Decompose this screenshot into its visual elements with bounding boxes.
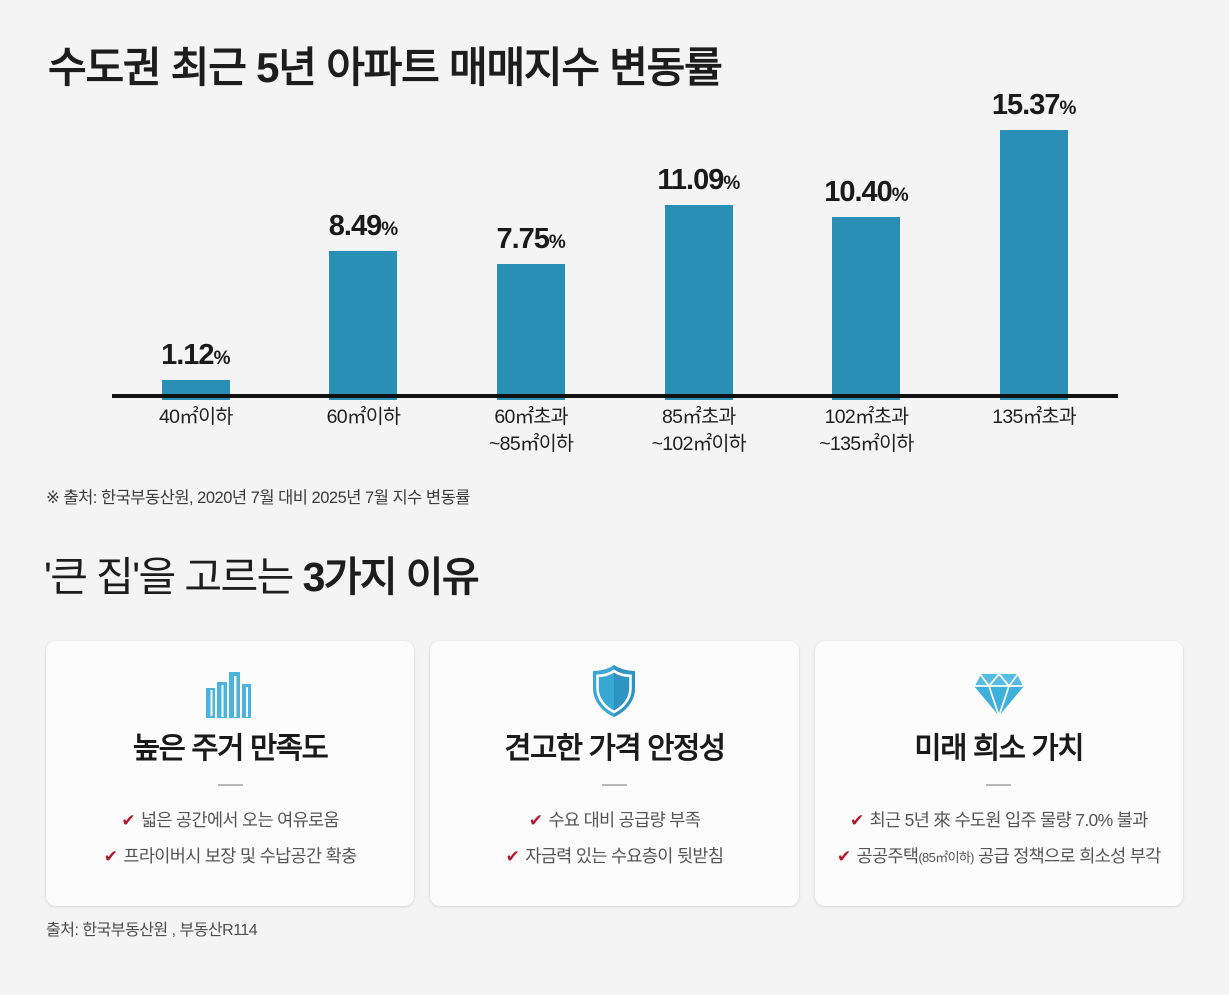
section-heading-light: '큰 집'을 고르는 (44, 554, 303, 600)
chart-bar[interactable] (1000, 130, 1068, 400)
category-label-line: 135㎡초과 (950, 404, 1118, 431)
building-icon (201, 664, 259, 718)
section-heading-heavy: 3가지 이유 (303, 554, 478, 600)
bar-value-label: 11.09% (657, 164, 740, 197)
chart-bar[interactable] (665, 205, 733, 400)
category-label-line: 60㎡이하 (280, 404, 448, 431)
reason-card-bullets: ✔최근 5년 來 수도원 입주 물량 7.0% 불과✔공공주택(85㎡이하) 공… (815, 807, 1183, 868)
reason-card-title: 높은 주거 만족도 (133, 725, 328, 767)
category-label-line: 102㎡초과 (783, 404, 951, 431)
infographic-page: 수도권 최근 5년 아파트 매매지수 변동률 1.12%8.49%7.75%11… (0, 0, 1229, 995)
chart-bar[interactable] (497, 264, 565, 400)
list-item: ✔넓은 공간에서 오는 여유로움 (121, 807, 339, 832)
bar-slot: 15.37% (950, 110, 1118, 400)
bar-slot: 1.12% (112, 110, 280, 400)
diamond-icon (972, 670, 1026, 718)
chart-bar[interactable] (832, 217, 900, 400)
shield-icon (585, 664, 643, 718)
bar-value-label: 1.12% (161, 339, 230, 372)
reason-card[interactable]: 미래 희소 가치✔최근 5년 來 수도원 입주 물량 7.0% 불과✔공공주택(… (815, 641, 1183, 906)
bar-slot: 11.09% (615, 110, 783, 400)
building-icon (204, 670, 256, 718)
list-item: ✔자금력 있는 수요층이 뒷받침 (506, 843, 724, 868)
reason-cards: 높은 주거 만족도✔넓은 공간에서 오는 여유로움✔프라이버시 보장 및 수납공… (46, 641, 1183, 906)
list-item-label: 최근 5년 來 수도원 입주 물량 7.0% 불과 (870, 807, 1148, 832)
footer-source: 출처: 한국부동산원 , 부동산R114 (46, 916, 257, 940)
list-item-label-note: (85㎡이하) (918, 850, 974, 865)
list-item-label: 자금력 있는 수요층이 뒷받침 (525, 843, 723, 868)
page-title-heavy: 아파트 매매지수 변동률 (326, 44, 721, 91)
list-item-label: 프라이버시 보장 및 수납공간 확충 (123, 843, 356, 868)
chart-category-label: 135㎡초과 (950, 404, 1118, 431)
category-label-line: ~85㎡이하 (447, 431, 615, 458)
reason-card-title: 미래 희소 가치 (914, 725, 1083, 767)
bar-value-label: 15.37% (992, 89, 1076, 122)
check-icon: ✔ (837, 848, 851, 865)
chart-source-note: ※ 출처: 한국부동산원, 2020년 7월 대비 2025년 7월 지수 변동… (46, 484, 470, 508)
check-icon: ✔ (850, 812, 864, 829)
category-label-line: 40㎡이하 (112, 404, 280, 431)
chart-baseline-axis (112, 394, 1118, 398)
check-icon: ✔ (529, 812, 543, 829)
list-item-label: 공공주택(85㎡이하) 공급 정책으로 희소성 부각 (857, 843, 1161, 868)
chart-bar[interactable] (329, 251, 397, 400)
page-title-light: 수도권 최근 5년 (48, 44, 326, 91)
list-item: ✔최근 5년 來 수도원 입주 물량 7.0% 불과 (850, 807, 1148, 832)
page-title: 수도권 최근 5년 아파트 매매지수 변동률 (48, 34, 722, 95)
card-divider (218, 784, 243, 786)
chart-category-label: 85㎡초과~102㎡이하 (615, 404, 783, 458)
bar-value-label: 10.40% (824, 176, 908, 209)
list-item: ✔공공주택(85㎡이하) 공급 정책으로 희소성 부각 (837, 843, 1161, 868)
bar-chart: 1.12%8.49%7.75%11.09%10.40%15.37% (112, 110, 1118, 400)
reason-card-bullets: ✔수요 대비 공급량 부족✔자금력 있는 수요층이 뒷받침 (430, 807, 798, 868)
check-icon: ✔ (104, 848, 118, 865)
category-label-line: ~135㎡이하 (783, 431, 951, 458)
list-item-label: 넓은 공간에서 오는 여유로움 (141, 807, 339, 832)
card-divider (602, 784, 627, 786)
category-label-line: ~102㎡이하 (615, 431, 783, 458)
list-item-label-post: 공급 정책으로 희소성 부각 (974, 846, 1161, 866)
reason-card[interactable]: 높은 주거 만족도✔넓은 공간에서 오는 여유로움✔프라이버시 보장 및 수납공… (46, 641, 414, 906)
bar-slot: 8.49% (280, 110, 448, 400)
bar-value-label: 7.75% (496, 223, 565, 256)
reason-card-bullets: ✔넓은 공간에서 오는 여유로움✔프라이버시 보장 및 수납공간 확충 (46, 807, 414, 868)
bar-slot: 7.75% (447, 110, 615, 400)
list-item-label: 수요 대비 공급량 부족 (548, 807, 700, 832)
chart-category-labels: 40㎡이하60㎡이하60㎡초과~85㎡이하85㎡초과~102㎡이하102㎡초과~… (112, 404, 1118, 484)
card-divider (986, 784, 1011, 786)
list-item: ✔수요 대비 공급량 부족 (529, 807, 700, 832)
chart-category-label: 102㎡초과~135㎡이하 (783, 404, 951, 458)
reason-card[interactable]: 견고한 가격 안정성✔수요 대비 공급량 부족✔자금력 있는 수요층이 뒷받침 (430, 641, 798, 906)
category-label-line: 60㎡초과 (447, 404, 615, 431)
bar-value-label: 8.49% (329, 210, 398, 243)
list-item: ✔프라이버시 보장 및 수납공간 확충 (104, 843, 357, 868)
list-item-label-pre: 공공주택 (857, 846, 919, 866)
chart-category-label: 40㎡이하 (112, 404, 280, 431)
shield-icon (590, 664, 638, 718)
check-icon: ✔ (121, 812, 135, 829)
chart-category-label: 60㎡이하 (280, 404, 448, 431)
category-label-line: 85㎡초과 (615, 404, 783, 431)
diamond-icon (970, 664, 1028, 718)
check-icon: ✔ (506, 848, 520, 865)
section-heading: '큰 집'을 고르는 3가지 이유 (44, 543, 478, 603)
reason-card-title: 견고한 가격 안정성 (504, 725, 725, 767)
bar-slot: 10.40% (783, 110, 951, 400)
chart-category-label: 60㎡초과~85㎡이하 (447, 404, 615, 458)
